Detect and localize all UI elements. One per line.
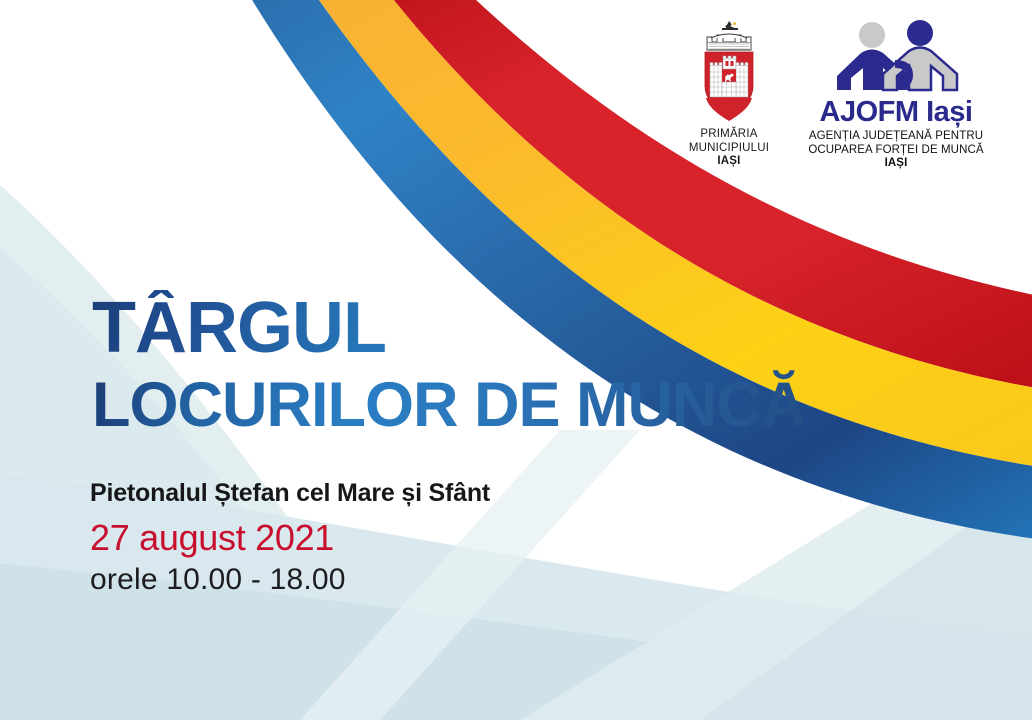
figure-left-head [859, 22, 885, 48]
ajofm-caption: AGENȚIA JUDEȚEANĂ PENTRU OCUPAREA FORȚEI… [780, 130, 1012, 171]
figure-right-head [907, 20, 933, 46]
poster-canvas: PRIMĂRIA MUNICIPIULUI IAȘI AJOFM Iași AG… [0, 0, 1032, 720]
ajofm-two-figures-icon [817, 20, 975, 96]
logo-ajofm-iasi: AJOFM Iași AGENȚIA JUDEȚEANĂ PENTRU OCUP… [780, 20, 1012, 171]
figure-right-body [883, 48, 957, 91]
ajofm-caption-line3: IAȘI [780, 157, 1012, 171]
headline-line-1: TÂRGUL [92, 290, 892, 366]
headline-line-2: LOCURILOR DE MUNCĂ [92, 370, 892, 440]
event-date: 27 august 2021 [90, 516, 850, 560]
iasi-coat-of-arms-icon [698, 20, 760, 124]
ajofm-caption-line1: AGENȚIA JUDEȚEANĂ PENTRU [780, 130, 1012, 144]
event-details: Pietonalul Ștefan cel Mare și Sfânt 27 a… [90, 478, 850, 598]
ajofm-caption-line2: OCUPAREA FORȚEI DE MUNCĂ [780, 144, 1012, 158]
poster-headline: TÂRGUL LOCURILOR DE MUNCĂ [92, 290, 892, 440]
ajofm-wordmark: AJOFM Iași [780, 97, 1012, 127]
event-venue: Pietonalul Ștefan cel Mare și Sfânt [90, 478, 850, 508]
event-hours: orele 10.00 - 18.00 [90, 562, 850, 598]
